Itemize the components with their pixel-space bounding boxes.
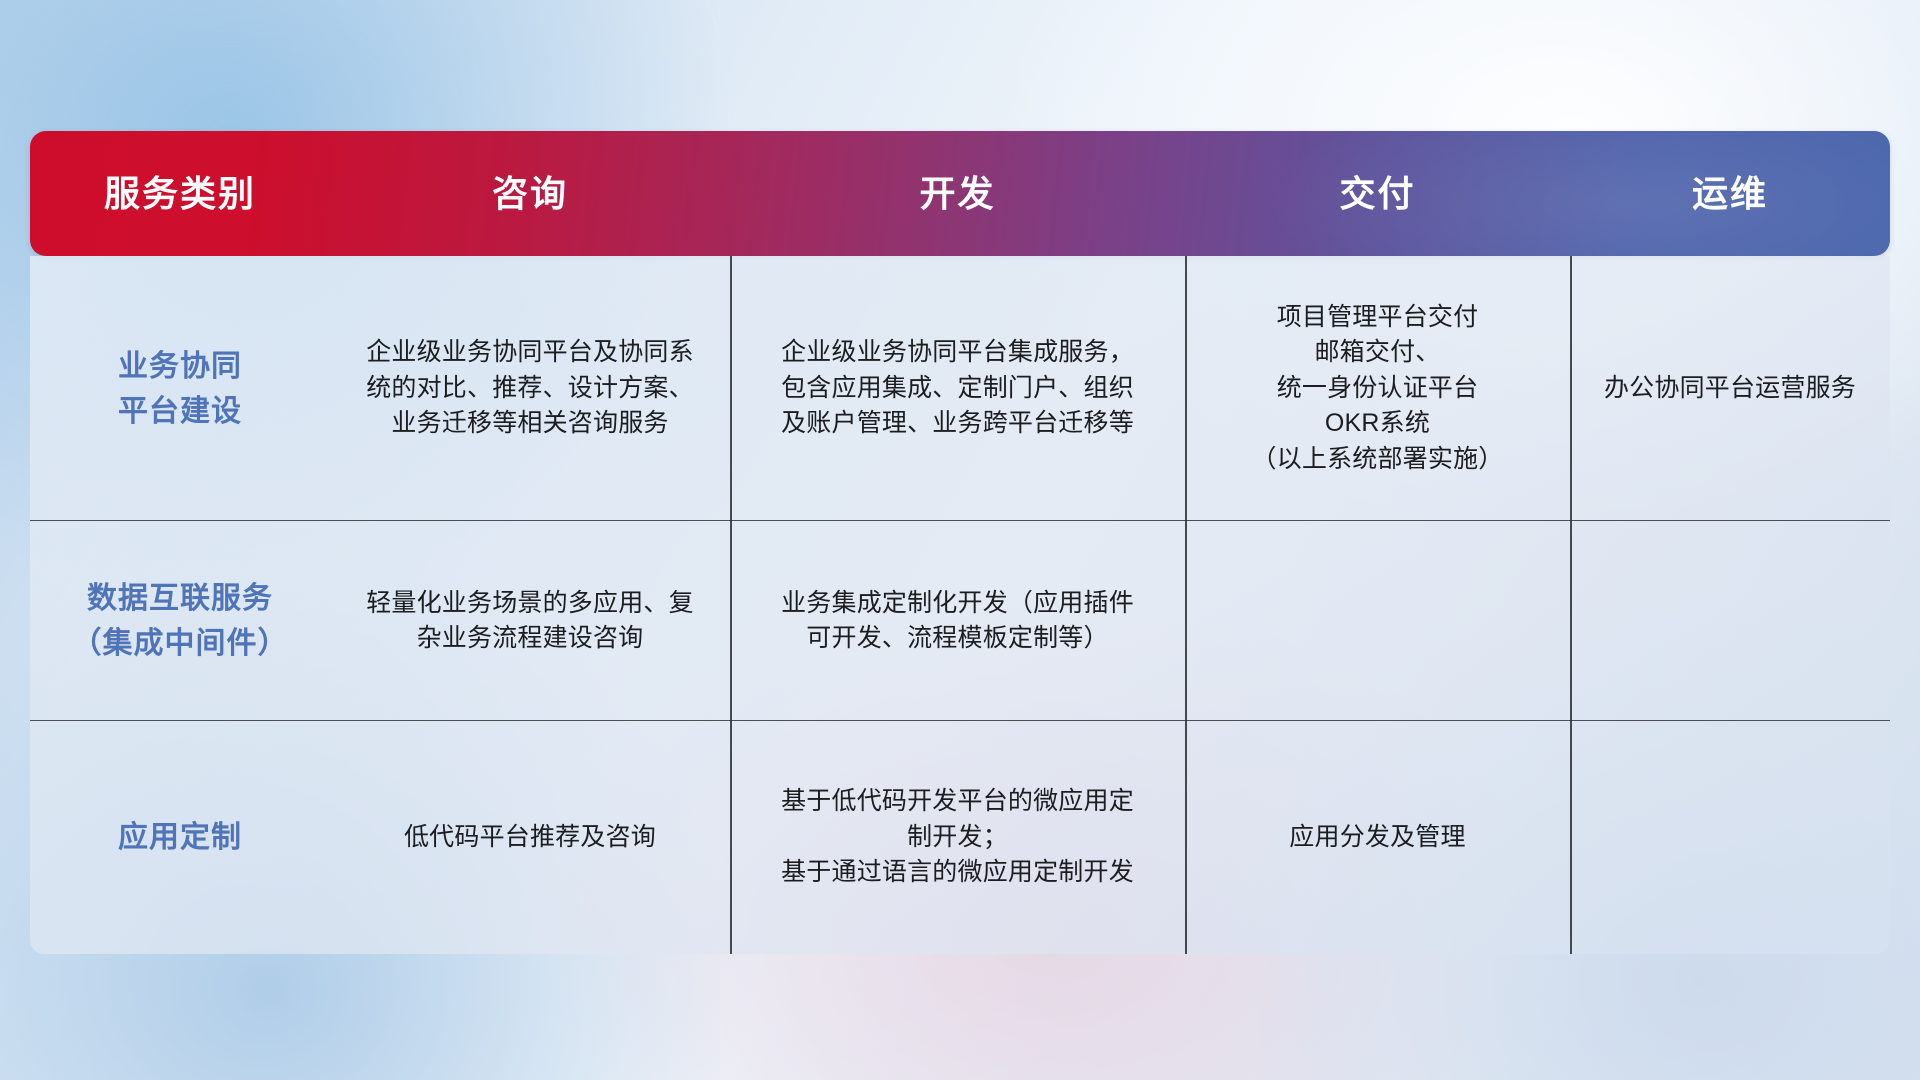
service-matrix-table: 服务类别 咨询 开发 交付 运维 业务协同 平台建设 企业级业务协同平台及协同系…	[30, 131, 1890, 954]
column-divider-development-delivery	[1185, 256, 1187, 954]
cell-consulting: 低代码平台推荐及咨询	[330, 721, 730, 954]
cell-operations	[1570, 721, 1890, 954]
column-header-development: 开发	[730, 174, 1185, 214]
cell-text-operations: 办公协同平台运营服务	[1604, 371, 1856, 407]
column-header-consulting: 咨询	[330, 174, 730, 214]
cell-text-consulting: 低代码平台推荐及咨询	[404, 820, 656, 856]
cell-text-development: 业务集成定制化开发（应用插件 可开发、流程模板定制等）	[781, 586, 1134, 657]
cell-development: 企业级业务协同平台集成服务， 包含应用集成、定制门户、组织 及账户管理、业务跨平…	[730, 256, 1185, 521]
cell-text-delivery: 项目管理平台交付 邮箱交付、 统一身份认证平台 OKR系统 （以上系统部署实施）	[1251, 300, 1503, 478]
cell-operations	[1570, 521, 1890, 721]
table-row: 数据互联服务 （集成中间件） 轻量化业务场景的多应用、复 杂业务流程建设咨询 业…	[30, 521, 1890, 721]
column-divider-consulting-development	[730, 256, 732, 954]
table-body: 业务协同 平台建设 企业级业务协同平台及协同系 统的对比、推荐、设计方案、 业务…	[30, 256, 1890, 954]
cell-consulting: 企业级业务协同平台及协同系 统的对比、推荐、设计方案、 业务迁移等相关咨询服务	[330, 256, 730, 521]
cell-development: 基于低代码开发平台的微应用定 制开发； 基于通过语言的微应用定制开发	[730, 721, 1185, 954]
cell-category: 数据互联服务 （集成中间件）	[30, 521, 330, 721]
cell-text-consulting: 企业级业务协同平台及协同系 统的对比、推荐、设计方案、 业务迁移等相关咨询服务	[366, 335, 694, 442]
cell-text-development: 基于低代码开发平台的微应用定 制开发； 基于通过语言的微应用定制开发	[781, 784, 1134, 891]
cell-delivery	[1185, 521, 1570, 721]
cell-category: 应用定制	[30, 721, 330, 954]
table-row: 应用定制 低代码平台推荐及咨询 基于低代码开发平台的微应用定 制开发； 基于通过…	[30, 721, 1890, 954]
table-header-row: 服务类别 咨询 开发 交付 运维	[30, 131, 1890, 256]
column-header-delivery: 交付	[1185, 174, 1570, 214]
column-divider-delivery-operations	[1570, 256, 1572, 954]
cell-delivery: 项目管理平台交付 邮箱交付、 统一身份认证平台 OKR系统 （以上系统部署实施）	[1185, 256, 1570, 521]
cell-operations: 办公协同平台运营服务	[1570, 256, 1890, 521]
cell-text-development: 企业级业务协同平台集成服务， 包含应用集成、定制门户、组织 及账户管理、业务跨平…	[781, 335, 1134, 442]
category-label: 应用定制	[118, 815, 242, 860]
category-label: 数据互联服务 （集成中间件）	[72, 576, 289, 666]
cell-development: 业务集成定制化开发（应用插件 可开发、流程模板定制等）	[730, 521, 1185, 721]
column-header-operations: 运维	[1570, 174, 1890, 214]
cell-category: 业务协同 平台建设	[30, 256, 330, 521]
table-row: 业务协同 平台建设 企业级业务协同平台及协同系 统的对比、推荐、设计方案、 业务…	[30, 256, 1890, 521]
cell-text-delivery: 应用分发及管理	[1289, 820, 1465, 856]
cell-consulting: 轻量化业务场景的多应用、复 杂业务流程建设咨询	[330, 521, 730, 721]
cell-text-consulting: 轻量化业务场景的多应用、复 杂业务流程建设咨询	[366, 586, 694, 657]
cell-delivery: 应用分发及管理	[1185, 721, 1570, 954]
category-label: 业务协同 平台建设	[118, 344, 242, 434]
column-header-service-category: 服务类别	[30, 174, 330, 214]
